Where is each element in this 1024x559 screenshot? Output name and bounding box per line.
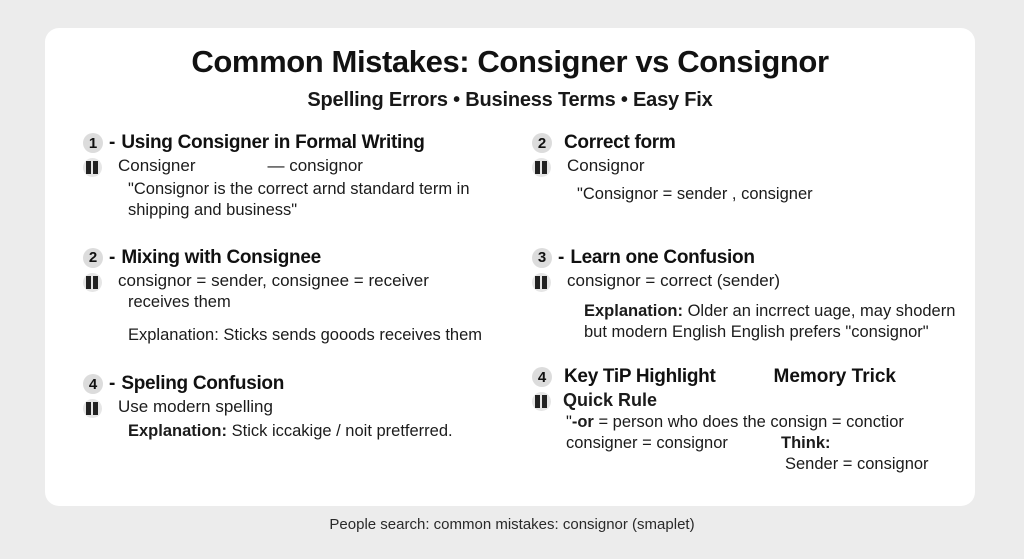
item-header: 2 - Mixing with Consignee <box>83 247 492 269</box>
sub-main-text: Consigner <box>118 156 196 175</box>
item-sub-secondary: receives them <box>128 293 492 313</box>
dash-separator: - <box>558 247 564 269</box>
item-title: Key TiP Highlight <box>564 366 716 388</box>
item-header: 3 - Learn one Confusion <box>532 247 967 269</box>
status-badge: 2 <box>532 133 552 153</box>
content-card: Common Mistakes: Consigner vs Consignor … <box>45 28 975 506</box>
list-item[interactable]: 2 - Mixing with Consignee consignor = se… <box>83 247 492 347</box>
item-header: 4 Key TiP Highlight Memory Trick <box>532 366 967 388</box>
sub-secondary-text: — consignor <box>268 156 363 176</box>
item-quote: "-or = person who does the consign = con… <box>566 413 967 433</box>
memory-trick-row: consigner = consignor Think: <box>566 434 967 453</box>
item-title-extra: Memory Trick <box>774 366 897 388</box>
book-icon <box>83 158 102 177</box>
list-item[interactable]: 4 - Speling Confusion Use modern spellin… <box>83 373 492 442</box>
trick-think-label: Think: <box>781 434 831 453</box>
item-sub-main: Quick Rule <box>559 390 657 411</box>
list-item[interactable]: 3 - Learn one Confusion consignor = corr… <box>532 247 967 343</box>
item-subrow: Consignor <box>532 156 967 177</box>
note-label: Explanation: <box>584 302 683 320</box>
item-sub-main: consignor = sender, consignee = receiver <box>110 271 429 291</box>
item-header: 1 - Using Consigner in Formal Writing <box>83 132 492 154</box>
list-item[interactable]: 2 Correct form Consignor "Consignor = se… <box>532 132 967 205</box>
list-item[interactable]: 1 - Using Consigner in Formal Writing Co… <box>83 132 492 221</box>
item-title: Using Consigner in Formal Writing <box>121 132 424 154</box>
item-title: Correct form <box>564 132 675 154</box>
item-note: Explanation: Stick iccakige / noit pretf… <box>128 422 492 442</box>
book-icon <box>83 273 102 292</box>
dash-separator: - <box>109 247 115 269</box>
status-badge: 3 <box>532 248 552 268</box>
status-badge: 2 <box>83 248 103 268</box>
status-badge: 1 <box>83 133 103 153</box>
columns-container: 1 - Using Consigner in Formal Writing Co… <box>45 132 975 480</box>
note-body: Stick iccakige / noit pretferred. <box>227 422 453 440</box>
page-subtitle: Spelling Errors • Business Terms • Easy … <box>45 89 975 112</box>
dash-separator: - <box>109 373 115 395</box>
item-subrow: consignor = correct (sender) <box>532 271 967 292</box>
item-header: 2 Correct form <box>532 132 967 154</box>
book-icon <box>83 399 102 418</box>
item-note-line2: but modern English English prefers "cons… <box>584 323 967 343</box>
item-sub-main: Consignor <box>559 156 645 176</box>
note-body: Older an incrrect uage, may shodern <box>683 302 955 320</box>
trick-left-text: consigner = consignor <box>566 434 781 453</box>
item-body-line1: "Consignor is the correct arnd standard … <box>128 180 492 200</box>
item-note: Explanation: Sticks sends gooods receive… <box>128 326 492 346</box>
status-badge: 4 <box>83 374 103 394</box>
slide-root: Common Mistakes: Consigner vs Consignor … <box>0 0 1024 559</box>
item-subrow: consignor = sender, consignee = receiver <box>83 271 492 292</box>
status-badge: 4 <box>532 367 552 387</box>
book-icon <box>532 158 551 177</box>
quote-body: = person who does the consign = conctior <box>594 413 904 431</box>
quote-keyword: -or <box>572 413 594 431</box>
book-icon <box>532 392 551 411</box>
item-title: Learn one Confusion <box>570 247 754 269</box>
item-sub-main: Use modern spelling <box>110 397 273 417</box>
item-sub-main: Consigner— consignor <box>110 156 363 176</box>
footer-text: People search: common mistakes: consigno… <box>0 516 1024 533</box>
item-header: 4 - Speling Confusion <box>83 373 492 395</box>
item-subrow: Use modern spelling <box>83 397 492 418</box>
note-label: Explanation: <box>128 422 227 440</box>
dash-separator: - <box>109 132 115 154</box>
item-title: Mixing with Consignee <box>121 247 321 269</box>
book-icon <box>532 273 551 292</box>
item-body-line2: shipping and business" <box>128 201 492 221</box>
list-item[interactable]: 4 Key TiP Highlight Memory Trick Quick R… <box>532 366 967 474</box>
item-note: Explanation: Older an incrrect uage, may… <box>584 302 967 322</box>
item-body-line1: "Consignor = sender , consigner <box>577 185 967 205</box>
left-column: 1 - Using Consigner in Formal Writing Co… <box>45 132 510 480</box>
item-subrow: Quick Rule <box>532 390 967 411</box>
right-column: 2 Correct form Consignor "Consignor = se… <box>510 132 975 480</box>
trick-last-text: Sender = consignor <box>785 455 967 474</box>
item-subrow: Consigner— consignor <box>83 156 492 177</box>
item-sub-main: consignor = correct (sender) <box>559 271 780 291</box>
page-title: Common Mistakes: Consigner vs Consignor <box>45 44 975 80</box>
item-title: Speling Confusion <box>121 373 284 395</box>
